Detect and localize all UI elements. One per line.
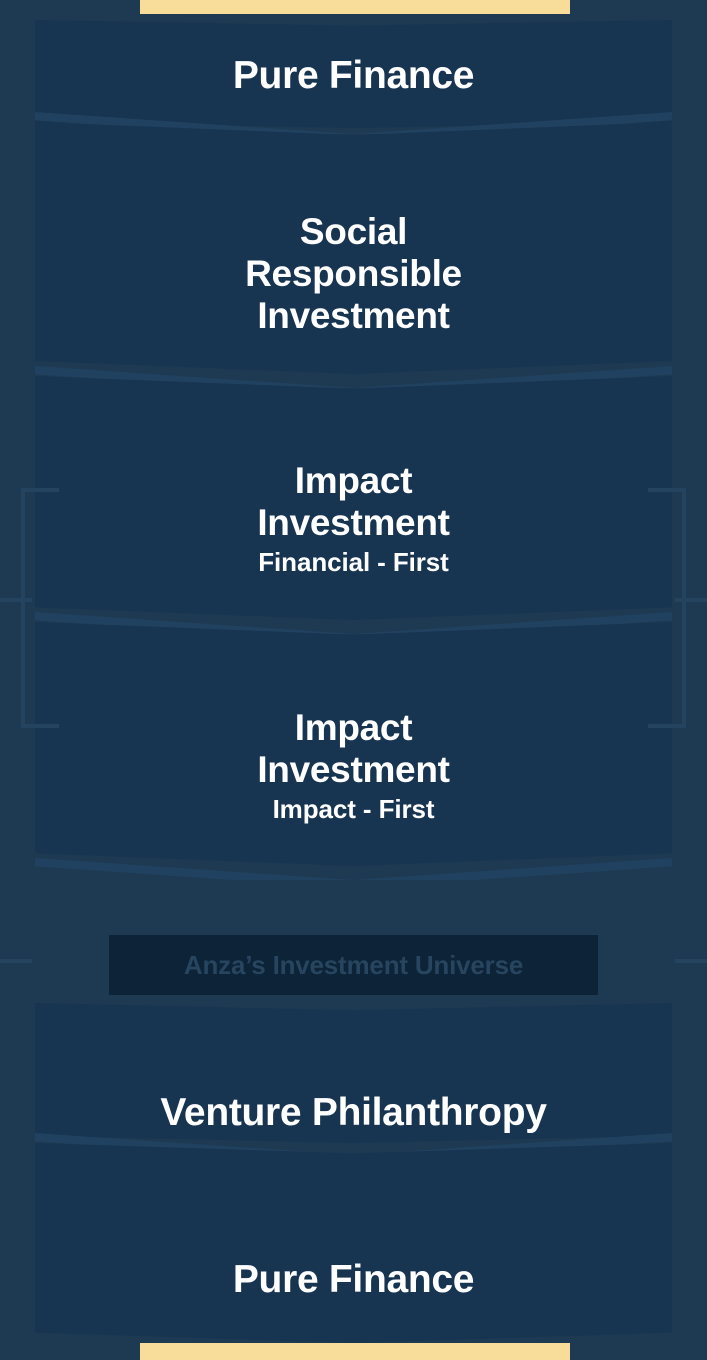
band-impact-investment-impact-first[interactable] [35, 622, 672, 866]
band-impact-investment-financial-first[interactable] [35, 376, 672, 620]
band-pure-finance-top[interactable] [35, 20, 672, 128]
outer-scope-bracket-right [675, 598, 707, 963]
band-pure-finance-bottom[interactable] [35, 1143, 672, 1343]
outer-scope-bracket-left [0, 598, 32, 963]
universe-label-box[interactable]: Anza’s Investment Universe [109, 935, 598, 995]
diagram-canvas: Pure Finance Social Responsible Investme… [0, 0, 707, 1360]
top-accent-bar [140, 0, 570, 14]
universe-label-text: Anza’s Investment Universe [184, 950, 523, 981]
band-venture-philanthropy[interactable] [35, 1003, 672, 1143]
band-social-responsible-investment[interactable] [35, 122, 672, 374]
bottom-accent-bar [140, 1343, 570, 1360]
